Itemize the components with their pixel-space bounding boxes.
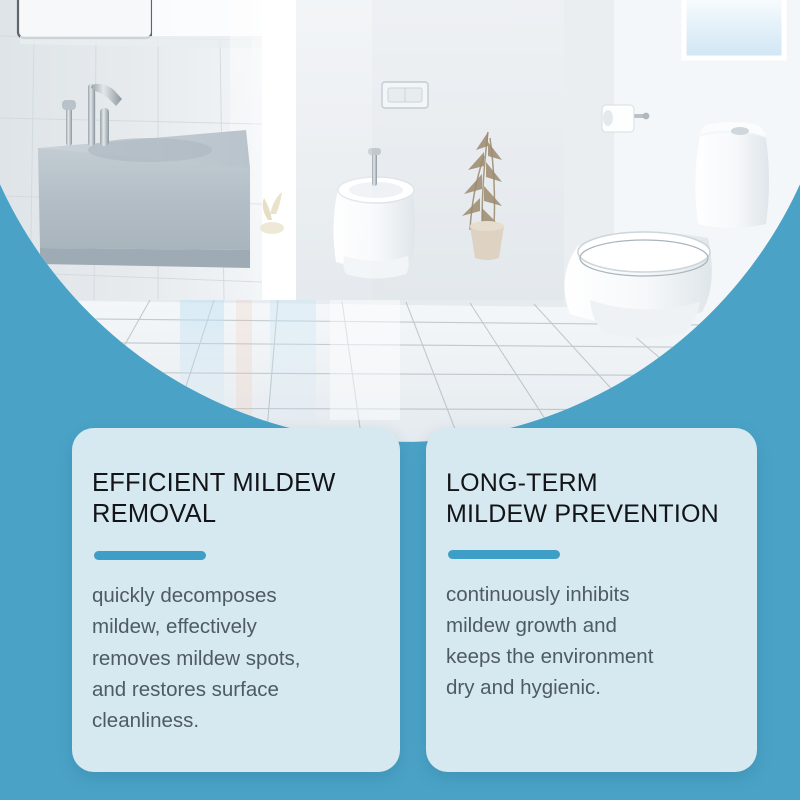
feature-card-long-term-mildew-prevention[interactable]: LONG-TERM MILDEW PREVENTION continuously… <box>426 428 757 772</box>
feature-card-efficient-mildew-removal[interactable]: EFFICIENT MILDEW REMOVAL quickly decompo… <box>72 428 400 772</box>
feature-card-title: EFFICIENT MILDEW REMOVAL <box>92 468 376 530</box>
promo-page: EFFICIENT MILDEW REMOVAL quickly decompo… <box>0 0 800 800</box>
feature-card-body: continuously inhibits mildew growth and … <box>446 579 745 704</box>
accent-divider-bar <box>94 551 206 560</box>
feature-card-body: quickly decomposes mildew, effectively r… <box>92 580 376 736</box>
accent-divider-bar <box>448 550 560 559</box>
feature-card-title: LONG-TERM MILDEW PREVENTION <box>446 468 745 529</box>
hero-photo <box>0 0 800 442</box>
